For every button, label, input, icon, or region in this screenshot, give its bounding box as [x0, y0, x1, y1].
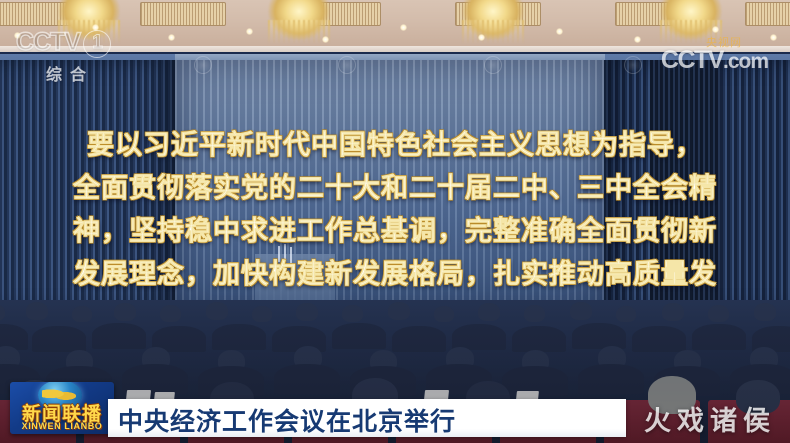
headline-banner: 中央经济工作会议在北京举行: [108, 399, 626, 437]
cctv-com-watermark: 央视网 CCTV.com: [661, 34, 768, 75]
program-logo-xinwen-lianbo: 新闻联播 XINWEN LIANBO: [10, 382, 114, 434]
cctv-mark-text: CCTV: [16, 28, 80, 56]
subtitle-line: 神，坚持稳中求进工作总基调，完整准确全面贯彻新: [0, 210, 790, 253]
subtitle-overlay: 要以习近平新时代中国特色社会主义思想为指导， 全面贯彻落实党的二十大和二十届二中…: [0, 124, 790, 296]
subtitle-line: 全面贯彻落实党的二十大和二十届二中、三中全会精: [0, 167, 790, 210]
channel-logo-cctv1: CCTV1 综合: [16, 28, 154, 84]
channel-number: 1: [83, 30, 111, 58]
cctv-wordmark: CCTV1: [16, 28, 154, 58]
cctv-com-en-main: CCTV: [661, 46, 723, 74]
channel-sub-label: 综合: [46, 61, 154, 85]
program-logo-en: XINWEN LIANBO: [10, 421, 114, 431]
chandelier-icon: [462, 0, 524, 40]
cctv-com-en-suffix: .com: [723, 50, 768, 73]
chandelier-icon: [268, 0, 330, 40]
cctv-com-en-label: CCTV.com: [661, 46, 768, 75]
subtitle-line: 发展理念，加快构建新发展格局，扎实推动高质量发: [0, 253, 790, 296]
corner-watermark: 火戏诸侯: [644, 399, 776, 438]
subtitle-line: 要以习近平新时代中国特色社会主义思想为指导，: [0, 124, 790, 167]
broadcast-screenshot: CCTV1 综合 央视网 CCTV.com 要以习近平新时代中国特色社会主义思想…: [0, 0, 790, 443]
headline-text: 中央经济工作会议在北京举行: [118, 402, 456, 438]
